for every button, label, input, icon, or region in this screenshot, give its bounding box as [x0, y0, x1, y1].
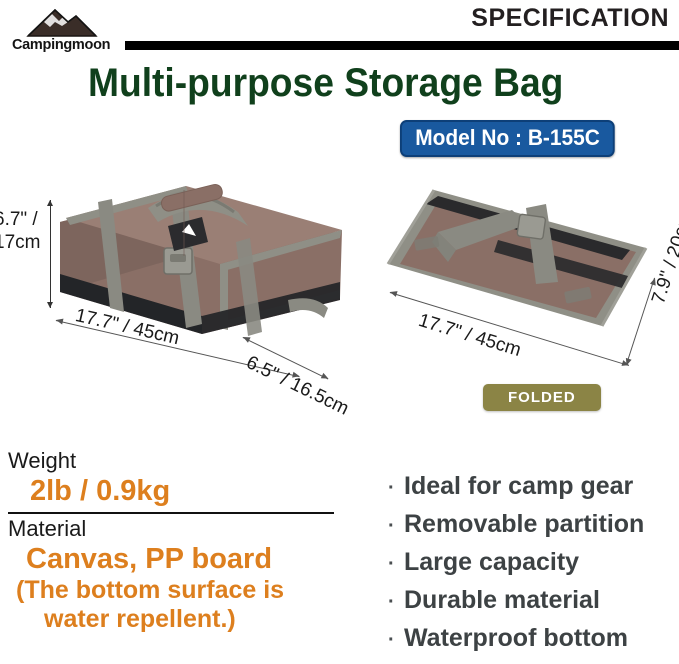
bullet-icon: · — [388, 508, 404, 544]
list-item: · Ideal for camp gear — [388, 468, 678, 506]
bullet-icon: · — [388, 584, 404, 620]
feature-list: · Ideal for camp gear · Removable partit… — [388, 468, 678, 658]
material-value: Canvas, PP board — [8, 542, 348, 576]
dimension-depth-label: 6.5" / 16.5cm — [242, 352, 352, 421]
svg-text:Campingmoon: Campingmoon — [12, 37, 110, 52]
bullet-icon: · — [388, 470, 404, 506]
specification-heading: SPECIFICATION — [471, 4, 669, 33]
feature-label: Waterproof bottom — [404, 620, 628, 656]
header-divider — [125, 41, 679, 50]
dimension-height-label: 6.7" / 17cm — [0, 208, 56, 254]
brand-logo: Campingmoon — [10, 4, 130, 52]
material-label: Material — [8, 516, 348, 542]
list-item: · Removable partition — [388, 506, 678, 544]
feature-label: Large capacity — [404, 544, 579, 580]
weight-value: 2lb / 0.9kg — [8, 474, 348, 508]
list-item: · Waterproof bottom — [388, 620, 678, 658]
feature-label: Durable material — [404, 582, 600, 618]
material-note-line-1: (The bottom surface is — [8, 576, 348, 605]
bullet-icon: · — [388, 546, 404, 582]
model-number-badge: Model No : B-155C — [400, 120, 615, 157]
specs-divider — [8, 512, 334, 514]
weight-label: Weight — [8, 448, 348, 474]
feature-label: Ideal for camp gear — [404, 468, 633, 504]
material-note-line-2: water repellent.) — [8, 605, 348, 634]
list-item: · Large capacity — [388, 544, 678, 582]
bullet-icon: · — [388, 622, 404, 658]
page-title: Multi-purpose Storage Bag — [88, 61, 563, 105]
feature-label: Removable partition — [404, 506, 644, 542]
specs-block: Weight 2lb / 0.9kg Material Canvas, PP b… — [8, 448, 348, 634]
list-item: · Durable material — [388, 582, 678, 620]
folded-state-badge: FOLDED — [483, 384, 601, 411]
specification-page: Campingmoon SPECIFICATION Multi-purpose … — [0, 0, 679, 664]
